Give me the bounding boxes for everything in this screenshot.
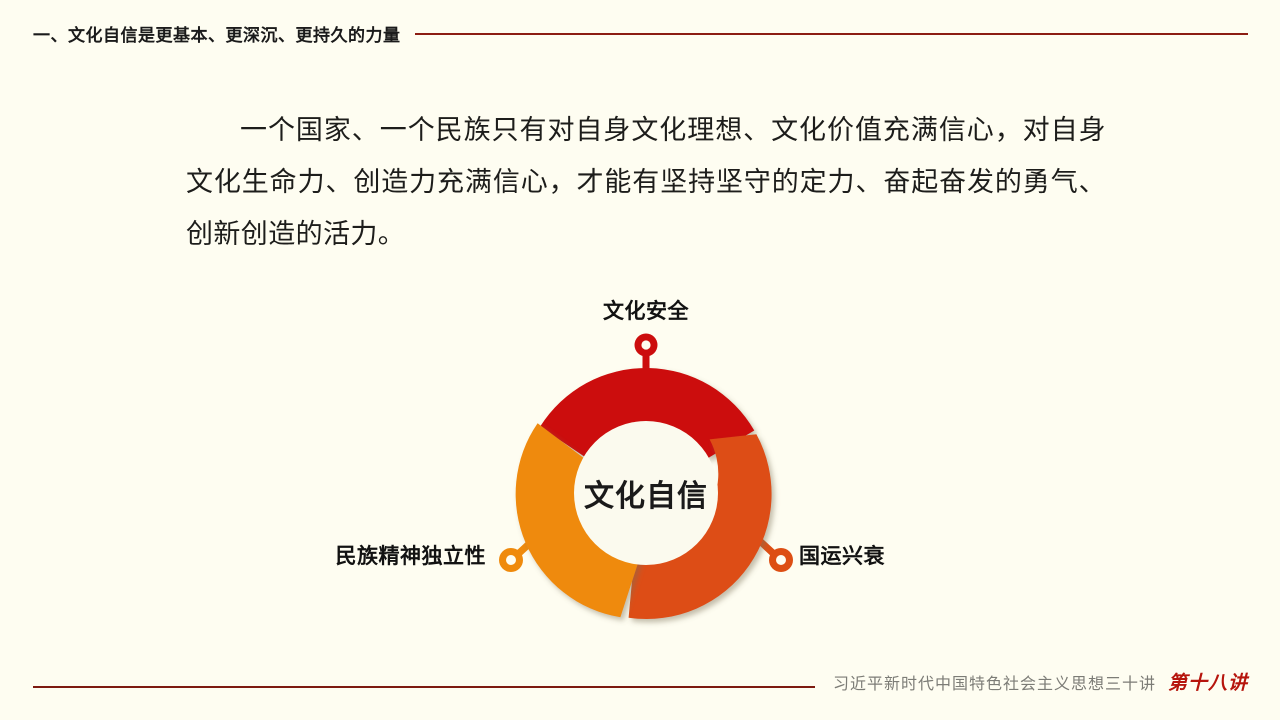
footer-lecture-number: 第十八讲: [1168, 668, 1248, 695]
donut-chart-svg: [271, 283, 1021, 643]
node-label-national-spirit: 民族精神独立性: [336, 540, 487, 570]
footer-text-group: 习近平新时代中国特色社会主义思想三十讲 第十八讲: [815, 668, 1248, 695]
connector-dot-left-hole: [506, 555, 516, 565]
footer-series-title: 习近平新时代中国特色社会主义思想三十讲: [833, 670, 1156, 694]
connector-top: [635, 334, 658, 369]
slide-footer: 习近平新时代中国特色社会主义思想三十讲 第十八讲: [0, 662, 1280, 720]
connector-dot-top-hole: [641, 340, 650, 349]
culture-confidence-donut-diagram: 文化自信 文化安全 国运兴衰 民族精神独立性: [271, 283, 1021, 643]
connector-dot-right-hole: [776, 555, 786, 565]
node-label-culture-security: 文化安全: [603, 295, 689, 325]
header-divider-line: [415, 33, 1249, 35]
donut-center-label: 文化自信: [584, 471, 708, 515]
slide-header: 一、文化自信是更基本、更深沉、更持久的力量: [0, 16, 1280, 50]
body-paragraph: 一个国家、一个民族只有对自身文化理想、文化价值充满信心，对自身文化生命力、创造力…: [186, 104, 1106, 260]
node-label-national-fortune: 国运兴衰: [799, 540, 885, 570]
page-title: 一、文化自信是更基本、更深沉、更持久的力量: [33, 21, 401, 46]
